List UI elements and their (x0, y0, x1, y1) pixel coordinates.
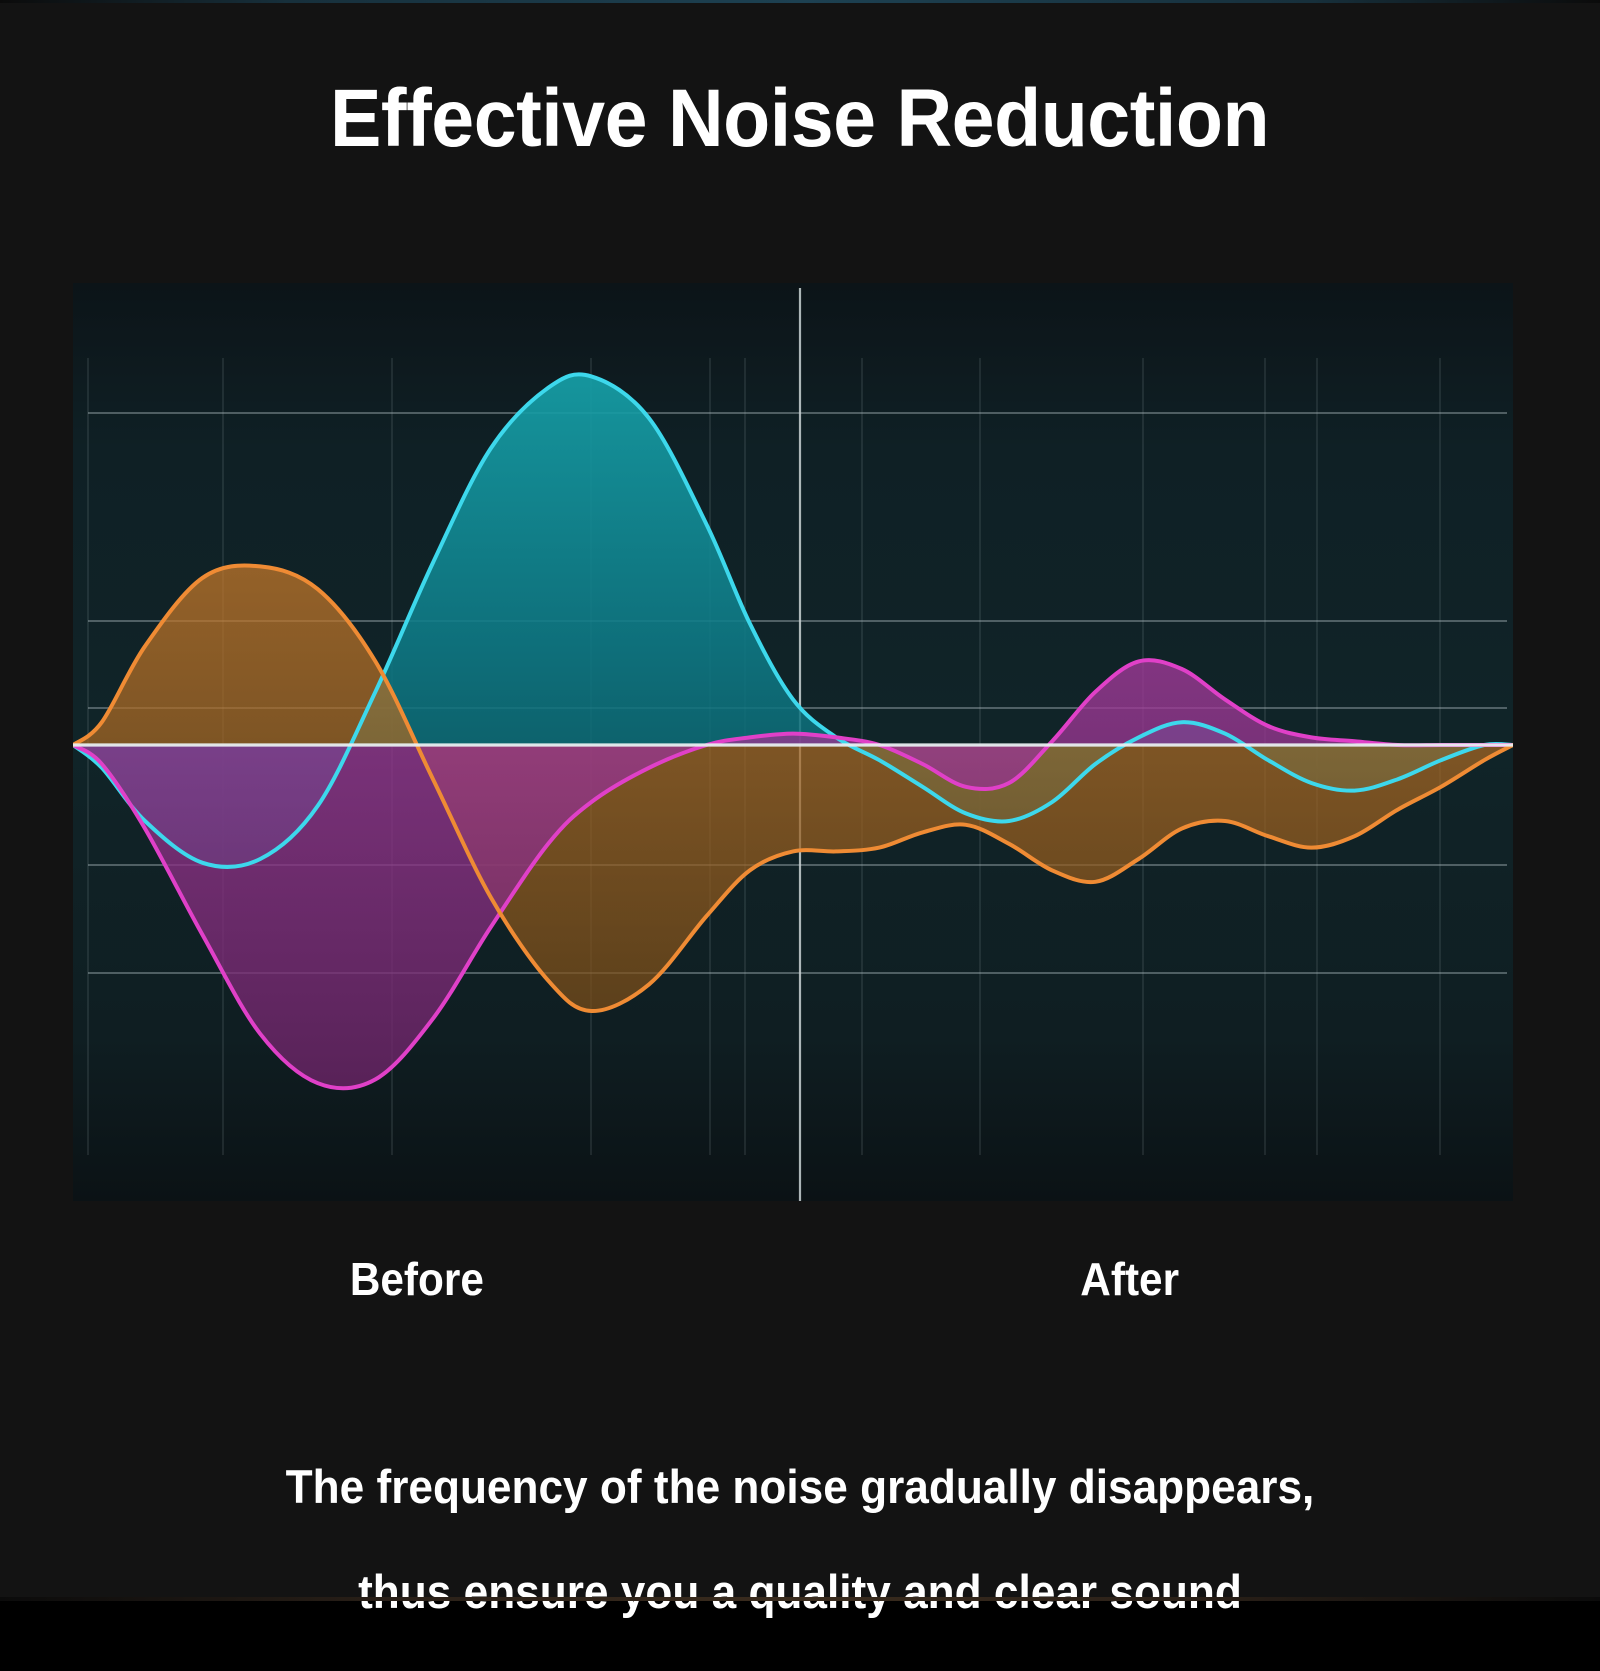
waveform-svg (73, 283, 1513, 1201)
label-after: After (1080, 1252, 1179, 1306)
top-divider (0, 0, 1600, 3)
bottom-divider (0, 1597, 1600, 1601)
caption-line-1: The frequency of the noise gradually dis… (48, 1461, 1552, 1514)
label-before: Before (350, 1252, 484, 1306)
caption-line-2: thus ensure you a quality and clear soun… (48, 1566, 1552, 1619)
phase-labels: Before After (0, 1252, 1600, 1322)
noise-reduction-infographic: Effective Noise Reduction (0, 0, 1600, 1601)
page-title: Effective Noise Reduction (330, 78, 1269, 160)
waveform-chart (73, 283, 1513, 1201)
caption-text: The frequency of the noise gradually dis… (48, 1408, 1552, 1671)
